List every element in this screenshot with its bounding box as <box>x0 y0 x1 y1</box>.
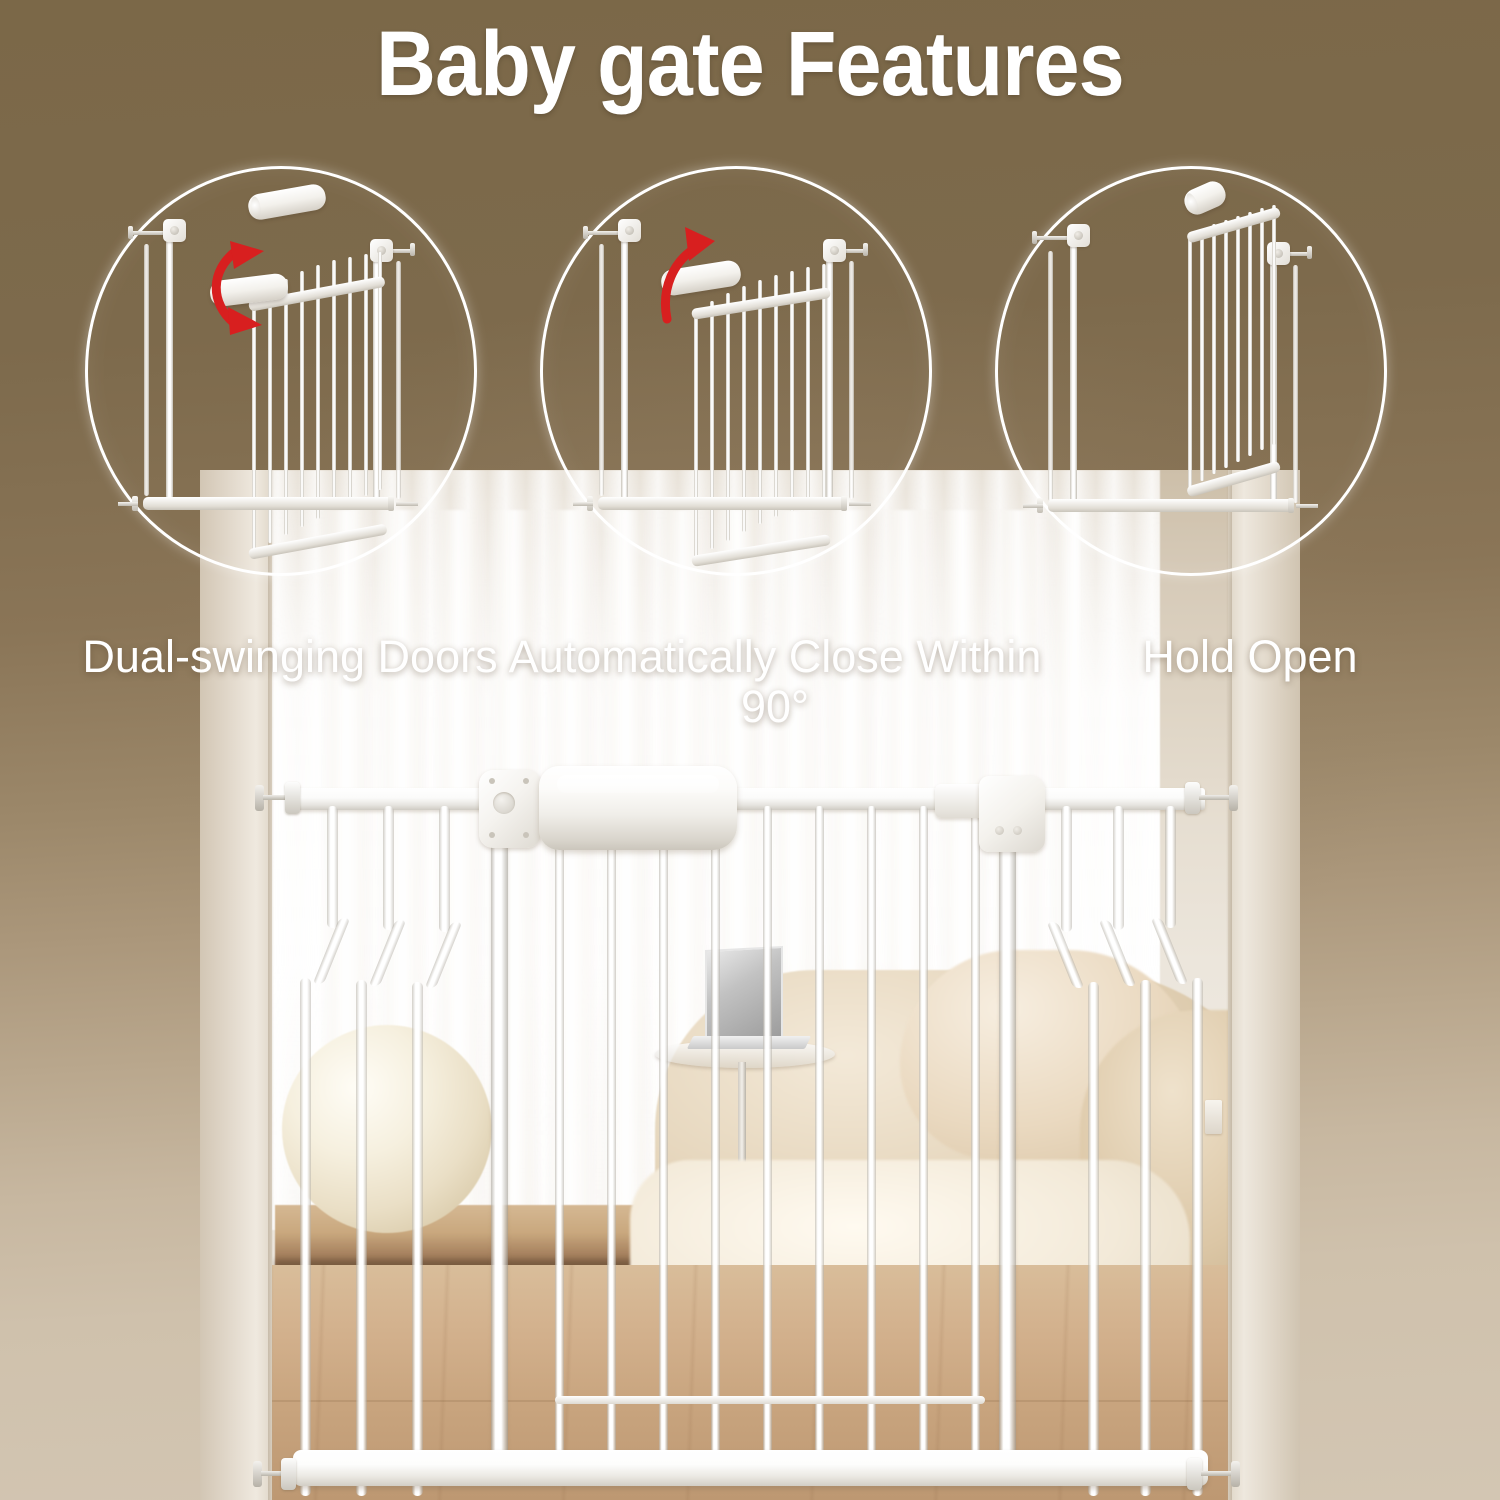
mini3-bottom-right-shaft <box>1296 504 1318 508</box>
mini-left-screw-cap <box>128 226 133 239</box>
gate-bottom-rail <box>293 1450 1208 1486</box>
infographic-canvas: Baby gate Features <box>0 0 1500 1500</box>
mini3-bottom-left-shaft <box>1023 504 1043 508</box>
mini2-left-screw-cap <box>583 226 588 239</box>
mini-right-post-rear <box>396 261 401 499</box>
gate-door-lower-frame <box>555 1396 985 1404</box>
illustration-dual-swinging-doors <box>88 169 474 573</box>
page-title: Baby gate Features <box>75 18 1425 110</box>
illustration-hold-open <box>998 169 1384 573</box>
handle-plate-rivet <box>489 832 495 838</box>
latch-indicator-dot <box>995 826 1004 835</box>
mini2-bottom-left-shaft <box>573 502 593 506</box>
mini3-left-screw-cap <box>1032 231 1037 244</box>
mini3-bottom-right-knob <box>1288 498 1294 513</box>
mini-left-hinge <box>163 219 186 242</box>
gate-bar <box>711 806 720 1454</box>
gate-handle[interactable] <box>539 766 737 850</box>
gate-bar <box>971 806 980 1454</box>
gate-latch-post <box>999 800 1016 1455</box>
handle-plate-rivet <box>523 778 529 784</box>
mini2-right-screw-cap <box>863 243 868 256</box>
gate-handle-hinge-plate <box>479 770 541 848</box>
gate-bar <box>815 806 824 1454</box>
mini2-left-screw-shaft <box>587 231 621 235</box>
mini3-left-post <box>1070 229 1077 504</box>
mini-left-screw-shaft <box>132 231 166 235</box>
mini2-right-post-rear <box>849 261 854 499</box>
mini-handle-open <box>246 182 327 221</box>
mini3-left-screw-shaft <box>1036 236 1070 240</box>
caption-dual-swinging-doors: Dual-swinging Doors <box>80 632 500 682</box>
mini3-bottom-rail <box>1048 499 1293 512</box>
gate-bar <box>555 806 564 1454</box>
feature-circle-hold-open <box>995 166 1387 576</box>
auto-close-arrow-icon <box>641 217 751 337</box>
main-baby-gate <box>255 760 1245 1500</box>
gate-bar <box>607 806 616 1454</box>
mini-left-post <box>166 224 173 499</box>
handle-pivot-hole <box>493 792 515 814</box>
mini2-bottom-rail <box>598 497 846 510</box>
handle-plate-rivet <box>489 778 495 784</box>
gate-bar <box>919 806 928 1454</box>
gate-hinge-post-left <box>491 800 508 1455</box>
mini-bottom-rail <box>143 497 393 510</box>
illustration-automatically-close <box>543 169 929 573</box>
gate-bar <box>763 806 772 1454</box>
gate-bar <box>867 806 876 1454</box>
caption-hold-open: Hold Open <box>1050 632 1450 682</box>
mini2-left-post-rear <box>599 244 604 496</box>
mini3-right-post-rear <box>1293 265 1298 503</box>
mini2-bottom-right-shaft <box>849 502 871 506</box>
mini-bottom-left-shaft <box>118 502 138 506</box>
handle-plate-rivet <box>523 832 529 838</box>
mini3-right-screw-cap <box>1307 246 1312 259</box>
mini2-left-post <box>621 224 628 499</box>
mini-right-screw-cap <box>410 243 415 256</box>
mini-left-post-rear <box>144 244 149 496</box>
feature-circle-dual-swinging-doors <box>85 166 477 576</box>
mini3-left-post-rear <box>1048 251 1053 501</box>
mini-bottom-right-shaft <box>396 502 418 506</box>
double-swing-arrow-icon <box>188 229 298 339</box>
caption-automatically-close: Automatically Close Within 90° <box>505 632 1045 733</box>
mini2-right-hinge <box>823 239 846 262</box>
mini2-left-hinge <box>618 219 641 242</box>
mini3-open-door-panel <box>1186 197 1284 487</box>
mini2-bottom-right-knob <box>841 496 847 511</box>
gate-bar <box>659 806 668 1454</box>
gate-latch-plate[interactable] <box>979 776 1045 852</box>
latch-indicator-dot <box>1013 826 1022 835</box>
mini3-left-hinge <box>1067 224 1090 247</box>
feature-circle-automatically-close <box>540 166 932 576</box>
mini-bottom-right-knob <box>388 496 394 511</box>
